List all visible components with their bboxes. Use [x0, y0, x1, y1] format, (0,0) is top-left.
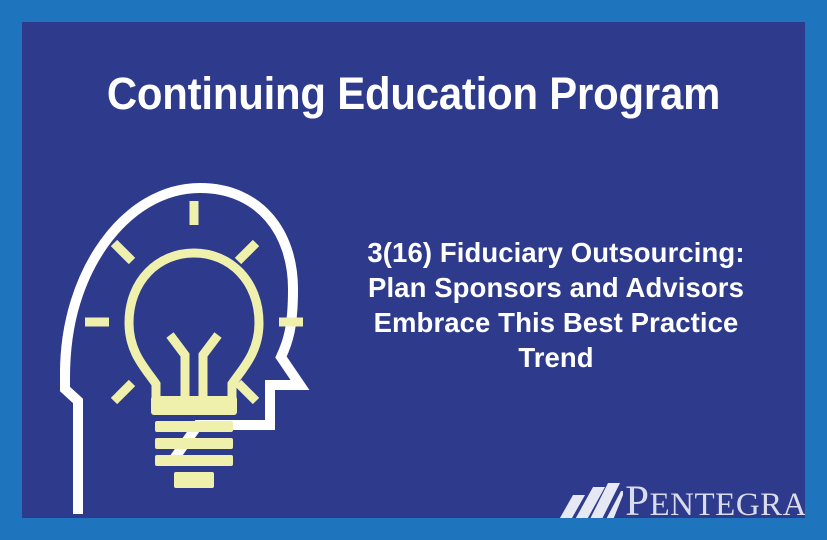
session-title-line-4: Trend [310, 340, 802, 375]
pentegra-wordmark: PENTEGRA [625, 480, 805, 519]
lightbulb-glyph [129, 253, 259, 401]
ray-bottom-left [114, 383, 132, 401]
page-title: Continuing Education Program [49, 68, 777, 120]
ray-bottom-right [238, 383, 256, 401]
slide-inner-panel: Continuing Education Program [22, 22, 805, 518]
slide-canvas: Continuing Education Program [0, 0, 827, 540]
head-with-lightbulb-icon [52, 177, 322, 518]
session-title-line-1: 3(16) Fiduciary Outsourcing: [310, 235, 802, 270]
lightbulb-base [151, 396, 237, 488]
pentegra-bars-icon [551, 481, 623, 518]
pentegra-wordmark-initial: P [625, 478, 649, 519]
session-title: 3(16) Fiduciary Outsourcing: Plan Sponso… [310, 235, 802, 375]
ray-top-right [238, 243, 256, 261]
session-title-line-2: Plan Sponsors and Advisors [310, 270, 802, 305]
head-with-lightbulb-svg [52, 177, 322, 518]
pentegra-bars-svg [551, 481, 623, 518]
pentegra-logo: PENTEGRA [542, 477, 805, 518]
pentegra-wordmark-rest: ENTEGRA [650, 487, 805, 519]
session-title-line-3: Embrace This Best Practice [310, 305, 802, 340]
ray-top-left [114, 243, 132, 261]
